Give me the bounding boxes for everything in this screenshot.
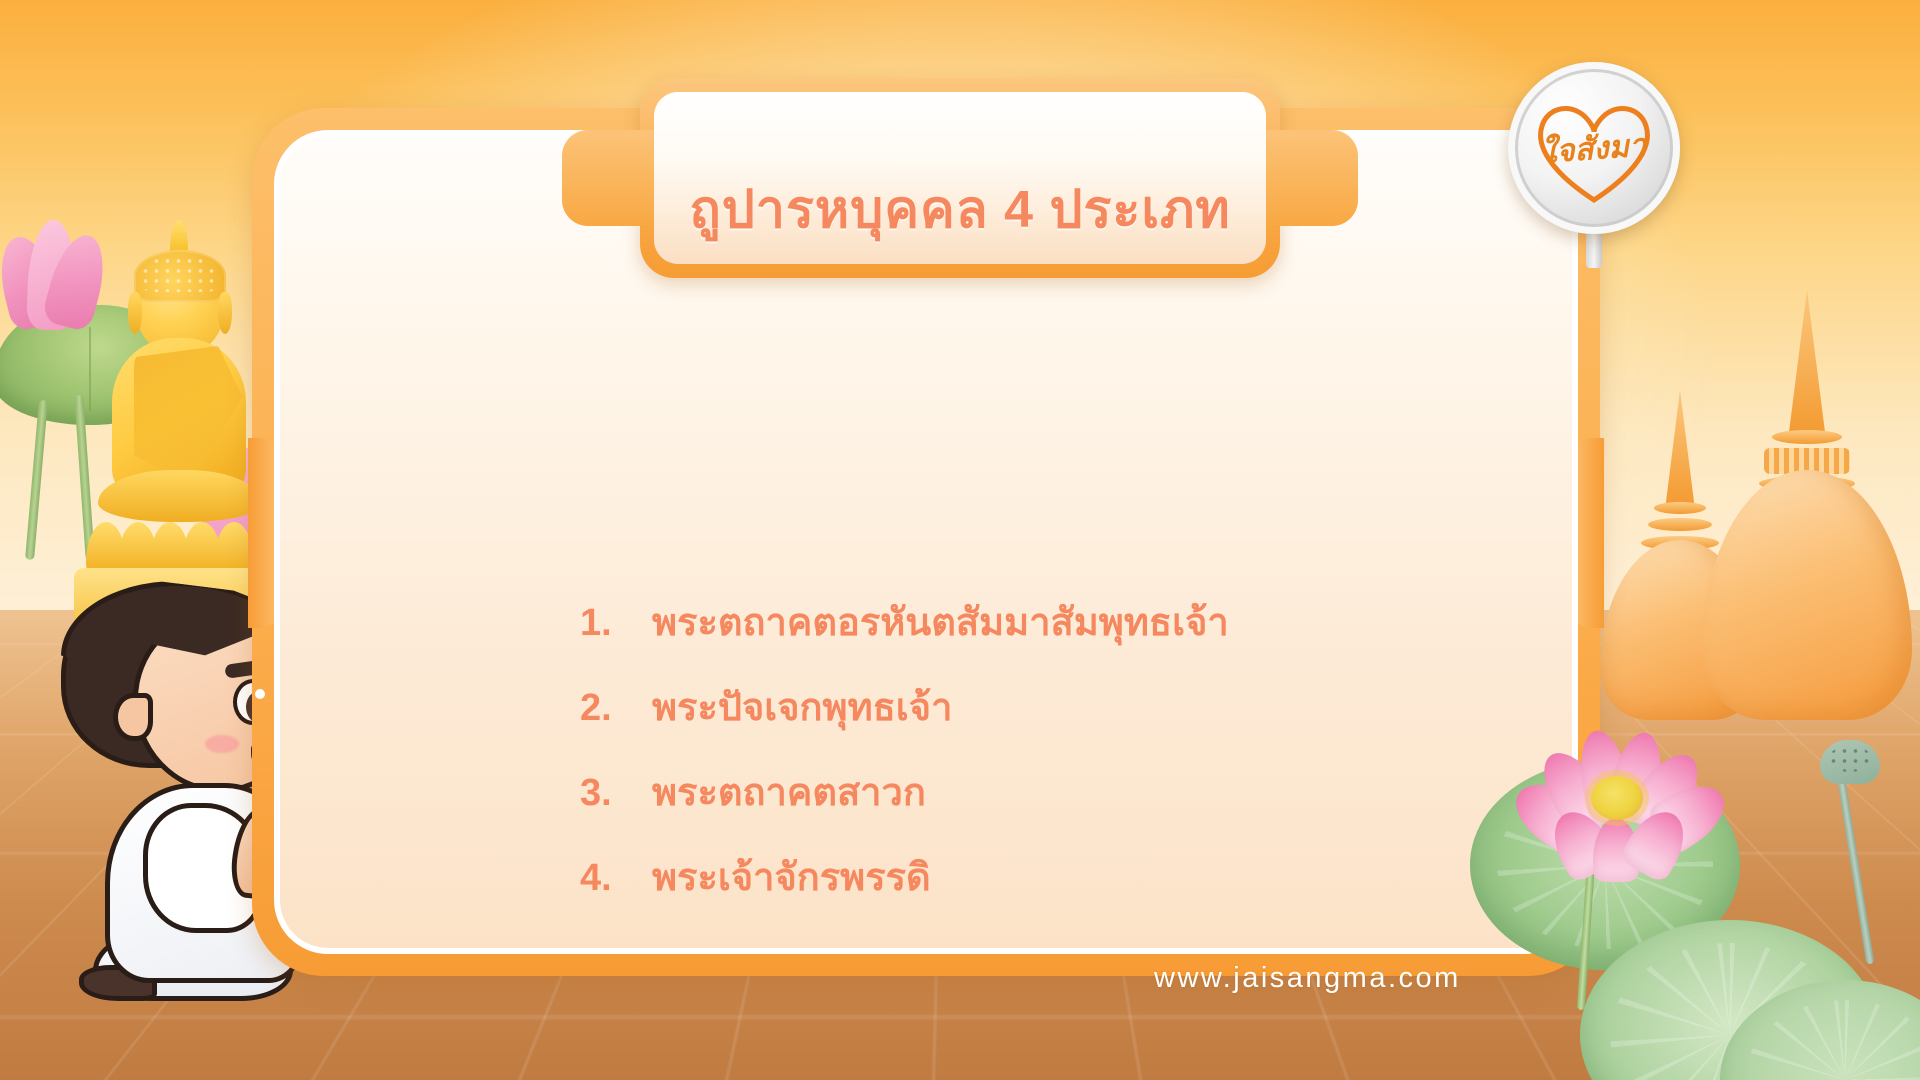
lotus-bud-icon [2, 218, 102, 338]
list-item-number: 4. [580, 857, 634, 900]
lotus-flower-icon [1515, 718, 1715, 888]
lotus-scene [1460, 710, 1920, 1080]
list-item-number: 3. [580, 772, 634, 815]
list-item-label: พระเจ้าจักรพรรดิ [652, 846, 931, 907]
list-item: 2. พระปัจเจกพุทธเจ้า [580, 676, 1460, 737]
list-item: 3. พระตถาคตสาวก [580, 761, 1460, 822]
list-item-label: พระตถาคตสาวก [652, 761, 926, 822]
list-item-label: พระปัจเจกพุทธเจ้า [652, 676, 952, 737]
title-plate: ถูปารหบุคคล 4 ประเภท [654, 92, 1266, 264]
list-item-number: 2. [580, 687, 634, 730]
list-item: 4. พระเจ้าจักรพรรดิ [580, 846, 1460, 907]
pagoda-group [1590, 250, 1920, 720]
page-title: ถูปารหบุคคล 4 ประเภท [689, 167, 1230, 250]
lotus-center [1591, 776, 1643, 820]
pagoda-icon [1702, 290, 1912, 720]
lotus-stem [25, 400, 48, 560]
badge-label: ใจสั่งมา [1540, 119, 1648, 176]
title-banner: ถูปารหบุคคล 4 ประเภท [640, 78, 1280, 278]
lotus-stem [1838, 781, 1875, 965]
content-list: 1. พระตถาคตอรหันตสัมมาสัมพุทธเจ้า 2. พระ… [580, 591, 1460, 931]
list-item-label: พระตถาคตอรหันตสัมมาสัมพุทธเจ้า [652, 591, 1229, 652]
buddha-statue-icon [94, 220, 264, 620]
brand-badge[interactable]: ใจสั่งมา [1508, 62, 1680, 234]
footer-website-url: www.jaisangma.com [1154, 962, 1461, 995]
lotus-seed-pod-icon [1820, 740, 1880, 784]
list-item-number: 1. [580, 602, 634, 645]
list-item: 1. พระตถาคตอรหันตสัมมาสัมพุทธเจ้า [580, 591, 1460, 652]
